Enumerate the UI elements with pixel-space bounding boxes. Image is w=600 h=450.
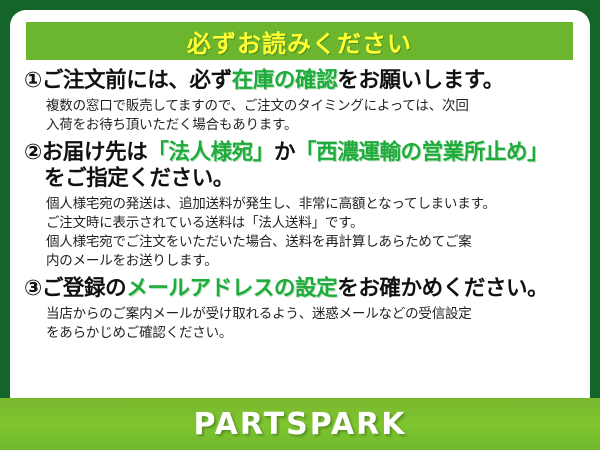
notice-item-2-heading: ②お届け先は「法人様宛」か「西濃運輸の営業所止め」 [24, 140, 578, 166]
notice-item-2-heading-highlight: 「法人様宛」 [147, 140, 274, 165]
notice-item-1-heading: ①ご注文前には、必ず在庫の確認をお願いします。 [24, 68, 578, 94]
notice-item-2-heading-highlight-2: 「西濃運輸の営業所止め」 [295, 140, 548, 165]
notice-item-1-body: 複数の窓口で販売してますので、ご注文のタイミングによっては、次回 入荷をお待ち頂… [24, 97, 578, 135]
header-banner: 必ずお読みください [26, 22, 573, 60]
notice-item-3-number: ③ [24, 276, 42, 301]
notice-content: ①ご注文前には、必ず在庫の確認をお願いします。 複数の窓口で販売してますので、ご… [10, 68, 590, 347]
notice-item-1: ①ご注文前には、必ず在庫の確認をお願いします。 複数の窓口で販売してますので、ご… [24, 68, 578, 136]
notice-item-3-body: 当店からのご案内メールが受け取れるよう、迷惑メールなどの受信設定 をあらかじめご… [24, 305, 578, 343]
notice-item-3-heading: ③ご登録のメールアドレスの設定をお確かめください。 [24, 276, 578, 302]
brand-logo: PARTSPARK [193, 407, 406, 442]
notice-item-1-number: ① [24, 68, 42, 93]
white-panel: 必ずお読みください ①ご注文前には、必ず在庫の確認をお願いします。 複数の窓口で… [10, 10, 590, 412]
notice-item-3: ③ご登録のメールアドレスの設定をお確かめください。 当店からのご案内メールが受け… [24, 276, 578, 344]
notice-item-1-heading-part2: をお願いします。 [337, 68, 504, 93]
notice-item-2: ②お届け先は「法人様宛」か「西濃運輸の営業所止め」 をご指定ください。 個人様宅… [24, 140, 578, 272]
notice-item-1-heading-highlight: 在庫の確認 [232, 68, 338, 93]
footer-banner: PARTSPARK [0, 398, 600, 450]
notice-item-2-heading-part1: お届け先は [42, 140, 148, 165]
notice-item-2-heading-part2: か [274, 140, 295, 165]
notice-item-2-number: ② [24, 140, 42, 165]
notice-item-2-body: 個人様宅宛の発送は、追加送料が発生し、非常に高額となってしまいます。 ご注文時に… [24, 195, 578, 272]
notice-item-3-heading-highlight: メールアドレスの設定 [126, 276, 337, 301]
notice-item-1-heading-part1: ご注文前には、必ず [42, 68, 232, 93]
notice-item-3-heading-part1: ご登録の [42, 276, 126, 301]
notice-card: 必ずお読みください ①ご注文前には、必ず在庫の確認をお願いします。 複数の窓口で… [0, 0, 600, 450]
header-title: 必ずお読みください [187, 24, 412, 59]
notice-item-3-heading-part2: をお確かめください。 [337, 276, 548, 301]
notice-item-2-heading-line2: をご指定ください。 [24, 166, 578, 192]
